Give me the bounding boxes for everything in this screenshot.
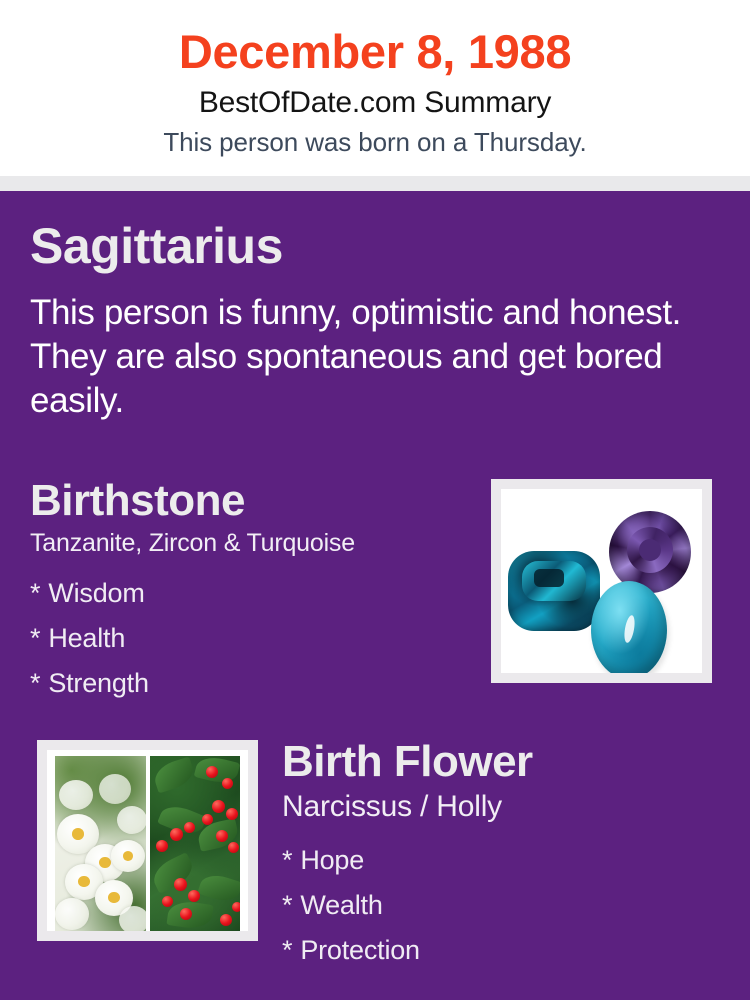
birthflower-section: Birth Flower Narcissus / Holly *Hope *We… bbox=[282, 736, 742, 973]
birthflower-trait-label: Wealth bbox=[300, 890, 382, 920]
birthstone-subtitle: Tanzanite, Zircon & Turquoise bbox=[30, 527, 480, 559]
holly-photo-half bbox=[150, 756, 240, 931]
birthflower-trait-list: *Hope *Wealth *Protection bbox=[282, 838, 742, 973]
list-item: *Wealth bbox=[282, 883, 742, 928]
bullet-marker-icon: * bbox=[30, 668, 40, 698]
bullet-marker-icon: * bbox=[30, 578, 40, 608]
summary-card: December 8, 1988 BestOfDate.com Summary … bbox=[0, 0, 750, 1000]
list-item: *Hope bbox=[282, 838, 742, 883]
bullet-marker-icon: * bbox=[282, 845, 292, 875]
tanzanite-gem-icon bbox=[609, 511, 691, 593]
list-item: *Strength bbox=[30, 661, 480, 706]
birthflower-image bbox=[47, 750, 248, 931]
birthstone-trait-label: Strength bbox=[48, 668, 148, 698]
turquoise-gem-icon bbox=[591, 581, 667, 673]
list-item: *Protection bbox=[282, 928, 742, 973]
birthstone-trait-label: Wisdom bbox=[48, 578, 144, 608]
birthflower-subtitle: Narcissus / Holly bbox=[282, 788, 742, 826]
content-panel: Sagittarius This person is funny, optimi… bbox=[0, 191, 750, 1000]
birthstone-title: Birthstone bbox=[30, 475, 480, 527]
list-item: *Health bbox=[30, 616, 480, 661]
birthstone-section: Birthstone Tanzanite, Zircon & Turquoise… bbox=[30, 475, 480, 706]
birthstone-image-frame bbox=[491, 479, 712, 683]
bullet-marker-icon: * bbox=[282, 935, 292, 965]
zodiac-sign-title: Sagittarius bbox=[30, 217, 283, 275]
zircon-gem-icon bbox=[508, 551, 600, 631]
bullet-marker-icon: * bbox=[30, 623, 40, 653]
list-item: *Wisdom bbox=[30, 571, 480, 616]
site-name: BestOfDate.com Summary bbox=[0, 82, 750, 124]
bullet-marker-icon: * bbox=[282, 890, 292, 920]
zodiac-description: This person is funny, optimistic and hon… bbox=[30, 291, 730, 423]
header-divider bbox=[0, 176, 750, 191]
card-header: December 8, 1988 BestOfDate.com Summary … bbox=[0, 0, 750, 176]
flower-split-photo bbox=[55, 756, 240, 931]
page-title-date: December 8, 1988 bbox=[0, 22, 750, 82]
birthstone-trait-label: Health bbox=[48, 623, 125, 653]
weekday-note: This person was born on a Thursday. bbox=[0, 124, 750, 160]
birthflower-image-frame bbox=[37, 740, 258, 941]
birthflower-title: Birth Flower bbox=[282, 736, 742, 788]
narcissus-photo-half bbox=[55, 756, 146, 931]
birthflower-trait-label: Protection bbox=[300, 935, 420, 965]
birthstone-trait-list: *Wisdom *Health *Strength bbox=[30, 571, 480, 706]
birthflower-trait-label: Hope bbox=[300, 845, 364, 875]
birthstone-image bbox=[501, 489, 702, 673]
